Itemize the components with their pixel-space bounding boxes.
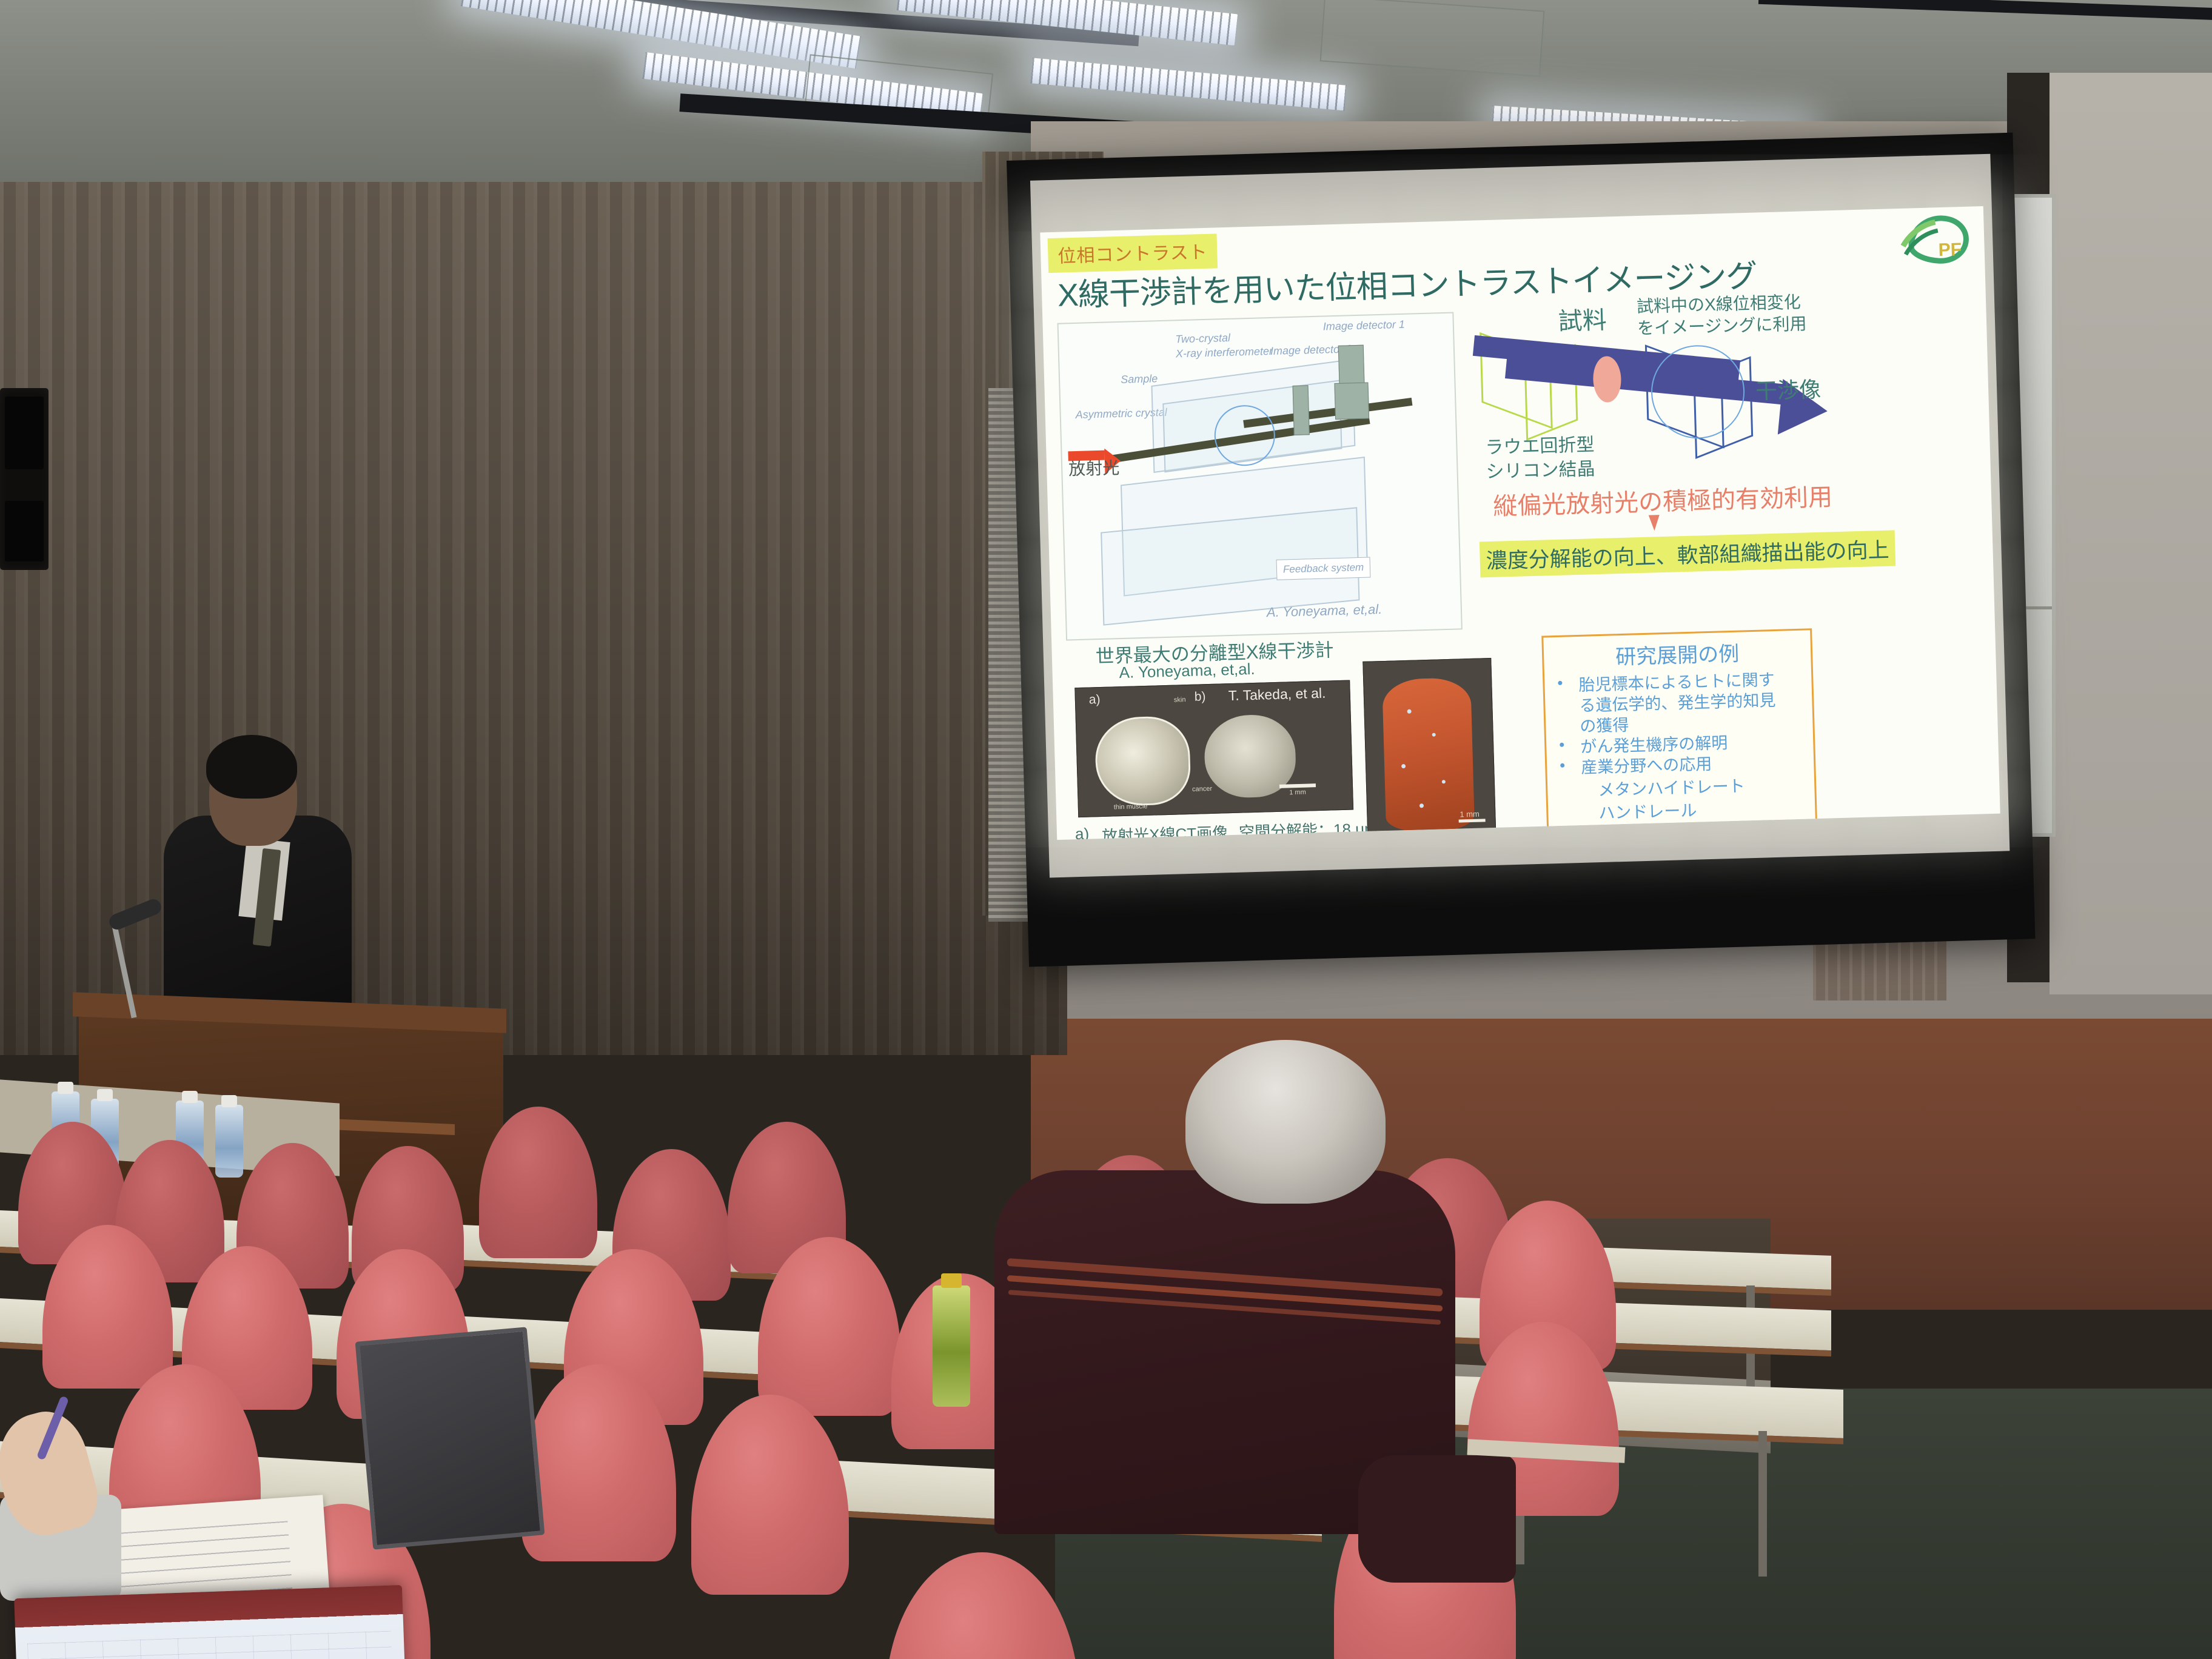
research-bullet-line: ハンドレール [1582, 797, 1697, 824]
crystal-label-2: シリコン結晶 [1486, 454, 1595, 483]
photo-annotation: skin [1174, 696, 1186, 704]
svg-text:PF: PF [1938, 240, 1962, 260]
projection-screen: 位相コントラスト X線干渉計を用いた位相コントラストイメージング PF Two-… [1007, 132, 2060, 988]
photo-scene: 位相コントラスト X線干渉計を用いた位相コントラストイメージング PF Two-… [0, 0, 2212, 1659]
tablet-device [355, 1327, 545, 1549]
diagram-label: X-ray interferometer [1176, 345, 1273, 360]
diagram-label-jp: 放射光 [1068, 455, 1120, 480]
diagram-label: Image detector 1 [1323, 318, 1406, 333]
photo-annotation: cancer [1192, 785, 1212, 793]
pf-logo-icon: PF [1897, 210, 1972, 270]
diagram-label: Feedback system [1276, 557, 1371, 580]
research-bullet-line: メタンハイドレート [1581, 773, 1745, 801]
green-tea-bottle [933, 1285, 970, 1407]
research-examples-box: 研究展開の例 胎児標本によるヒトに関す る遺伝学的、発生学的知見 の獲得 がん発… [1541, 628, 1818, 840]
water-bottle [215, 1105, 243, 1178]
photo-panel-label: b) [1194, 689, 1205, 705]
attendee-head [1185, 1040, 1386, 1204]
photo-credit: T. Takeda, et al. [1228, 685, 1326, 704]
right-wall-panel [2049, 73, 2212, 994]
presenter-hair [206, 735, 297, 799]
photo-annotation: thin muscle [1114, 803, 1148, 811]
sample-label: 試料 [1558, 300, 1607, 337]
yellow-result-banner: 濃度分解能の向上、軟部組織描出能の向上 [1480, 530, 1895, 577]
laue-crystal-diagram: 試料 試料中のX線位相変化 をイメージングに利用 ラウエ回折型 シリコン結晶 干… [1467, 290, 1985, 631]
interferometer-diagram: Two-crystal X-ray interferometer Image d… [1057, 312, 1463, 641]
photo-panel-label: a) [1089, 692, 1101, 708]
diagram-label: Sample [1121, 372, 1158, 386]
diagram-credit: A. Yoneyama, et,al. [1267, 602, 1382, 620]
chair [885, 1552, 1079, 1659]
photo-scale-label: 1 mm [1289, 789, 1306, 797]
presentation-slide: 位相コントラスト X線干渉計を用いた位相コントラストイメージング PF Two-… [1040, 206, 2000, 840]
ct-mri-photo: a) b) T. Takeda, et al. skin thin muscle… [1074, 680, 1353, 818]
ct-row-key: a) [1075, 825, 1090, 840]
attendee-arm [1358, 1455, 1516, 1583]
note-line-2: をイメージングに利用 [1637, 310, 1807, 340]
air-hydrate-photo: S. Takeya, et al. 1 mm [1362, 658, 1496, 840]
wall-speaker [0, 388, 49, 570]
diagram-label: Two-crystal [1175, 332, 1230, 346]
photo-scale-label: 1 mm [1460, 809, 1480, 819]
stage-curtain [0, 182, 1067, 1055]
chair [691, 1395, 849, 1595]
pink-statement: 縦偏光放射光の積極的有効利用 [1492, 477, 1832, 522]
caption-left-2: A. Yoneyama, et,al. [1119, 660, 1255, 682]
interference-label: 干渉像 [1755, 372, 1821, 406]
